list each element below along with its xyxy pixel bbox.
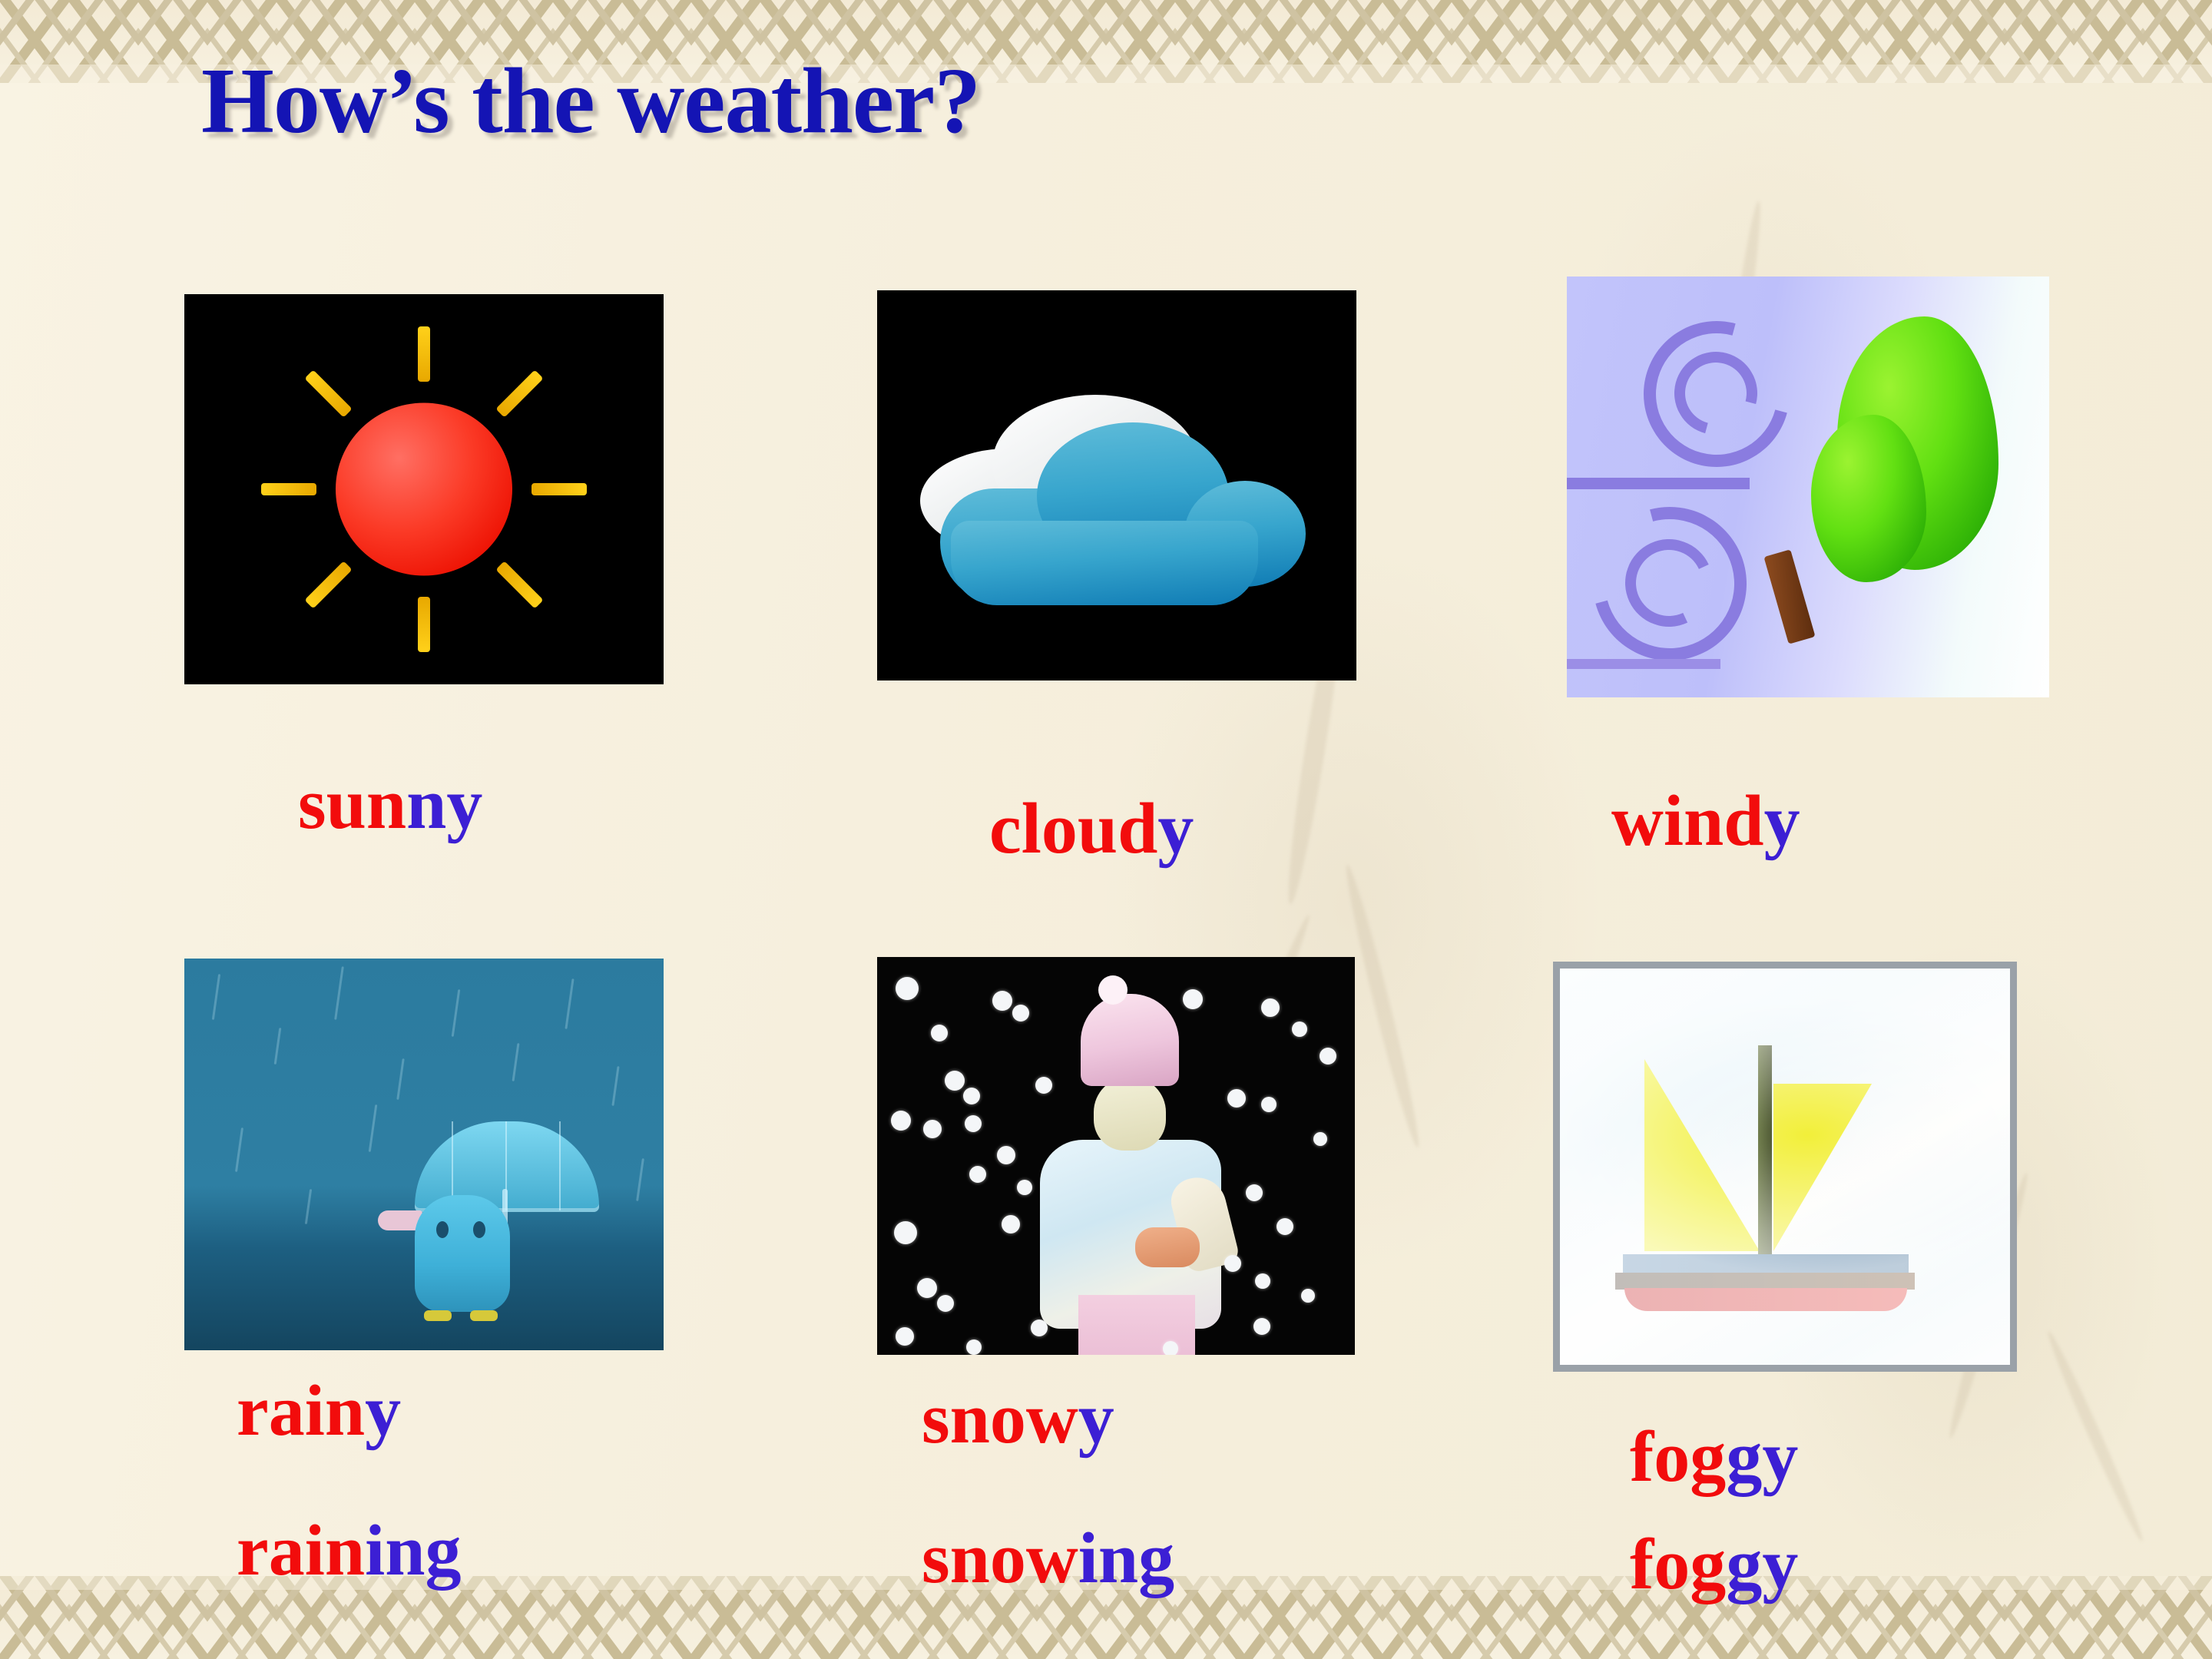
wind-streak-line [1567,659,1720,669]
raindrop [212,974,220,1020]
raindrop [512,1043,520,1081]
label-foggy-1-blue: gy [1726,1417,1798,1497]
umbrella-rib [559,1121,561,1210]
snowflake [937,1295,954,1312]
snowflake [1261,1097,1277,1112]
snowflake [896,1327,914,1346]
label-raining: raining [237,1515,462,1588]
raindrop [274,1028,282,1065]
label-sunny-blue: ny [406,764,482,844]
raindrop [565,979,574,1029]
label-snowy: snowy [922,1382,1114,1456]
snowflake [917,1278,937,1298]
snowflake [965,1115,982,1132]
wind-streak-line [1567,478,1750,489]
snowflake [1224,1255,1241,1272]
rainy-image [184,959,664,1350]
label-windy: windy [1611,785,1800,859]
snowflake [891,1111,911,1131]
page-title: How’s the weather? [201,48,980,155]
snowy-image [877,957,1355,1355]
label-cloudy: cloudy [989,793,1194,866]
tree-foliage-icon [1811,415,1926,582]
snowflake [1246,1184,1263,1201]
snowflake [1320,1048,1336,1065]
snowflake [1255,1273,1270,1289]
raindrop [235,1128,243,1172]
bird-foot-icon [424,1310,452,1321]
bird-eye-icon [436,1221,449,1238]
snowflake [1002,1215,1020,1233]
windy-image [1567,276,2049,697]
label-raining-blue: ing [365,1511,461,1591]
snow-person-mitten [1135,1227,1200,1267]
foggy-image [1553,962,2017,1372]
raindrop [334,966,344,1020]
snowflake [896,977,919,1000]
snow-person-face [1094,1077,1166,1151]
label-snowy-red: snow [922,1379,1078,1459]
snowflake [1163,1341,1178,1355]
label-foggy-2: foggy [1630,1528,1798,1602]
sunny-image [184,294,664,684]
bird-eye-icon [473,1221,485,1238]
snowflake [1227,1089,1246,1108]
label-raining-red: rain [237,1511,365,1591]
background-watermark [2043,1329,2148,1545]
label-cloudy-red: cloud [989,789,1157,869]
sun-ray-icon [531,483,587,495]
cloud-blue-lobe-icon [951,521,1258,605]
raindrop [452,989,461,1037]
raindrop [369,1104,378,1152]
cloudy-image [877,290,1356,680]
snowflake [923,1120,942,1138]
label-rainy-blue: y [365,1371,401,1451]
label-foggy-1-red: fog [1630,1417,1726,1497]
label-foggy-2-red: fog [1630,1525,1726,1604]
snowflake [1012,1005,1029,1022]
snowflake [945,1071,965,1091]
snow-person-hat-pom [1098,975,1128,1005]
snow-person-hat [1081,994,1179,1086]
label-snowy-blue: y [1078,1379,1114,1459]
label-windy-red: wind [1611,781,1764,861]
label-snowing: snowing [922,1522,1174,1596]
raindrop [396,1058,404,1100]
sun-ray-icon [495,369,543,417]
label-cloudy-blue: y [1157,789,1194,869]
snowflake [1277,1218,1293,1235]
label-snowing-blue: ing [1078,1518,1174,1598]
snowflake [1035,1077,1052,1094]
snowflake [1292,1022,1307,1037]
snowflake [966,1339,982,1355]
sun-ray-icon [304,561,352,608]
snowflake [894,1221,917,1244]
sun-disc-icon [336,403,512,576]
sun-ray-icon [418,326,430,382]
snowflake [1301,1289,1315,1303]
label-snowing-red: snow [922,1518,1078,1598]
label-rainy-red: rain [237,1371,365,1451]
snowflake [997,1146,1015,1164]
fog-haze-overlay [1560,969,2010,1365]
snowflake [963,1088,980,1104]
bird-body-icon [415,1195,510,1312]
snowflake [1261,998,1280,1017]
raindrop [305,1189,312,1224]
snowflake [1017,1180,1032,1195]
sun-ray-icon [495,561,543,608]
sun-ray-icon [261,483,316,495]
sun-ray-icon [304,369,352,417]
snowflake [1183,989,1203,1009]
sun-ray-icon [418,597,430,652]
slide-canvas: How’s the weather? sunny cloudy [0,0,2212,1659]
tree-trunk-icon [1763,549,1815,644]
label-foggy-1: foggy [1630,1421,1798,1495]
label-foggy-2-blue: gy [1726,1525,1798,1604]
label-sunny-red: sun [298,764,406,844]
raindrop [611,1066,619,1106]
snowflake [931,1025,948,1041]
snowflake [1253,1318,1270,1335]
snowflake [1313,1132,1327,1146]
raindrop [636,1158,644,1201]
snowflake [969,1166,986,1183]
label-sunny: sunny [298,768,482,842]
bird-foot-icon [470,1310,498,1321]
label-windy-blue: y [1764,781,1800,861]
label-rainy: rainy [237,1375,401,1449]
snowflake [1031,1320,1048,1336]
snowflake [992,991,1012,1011]
